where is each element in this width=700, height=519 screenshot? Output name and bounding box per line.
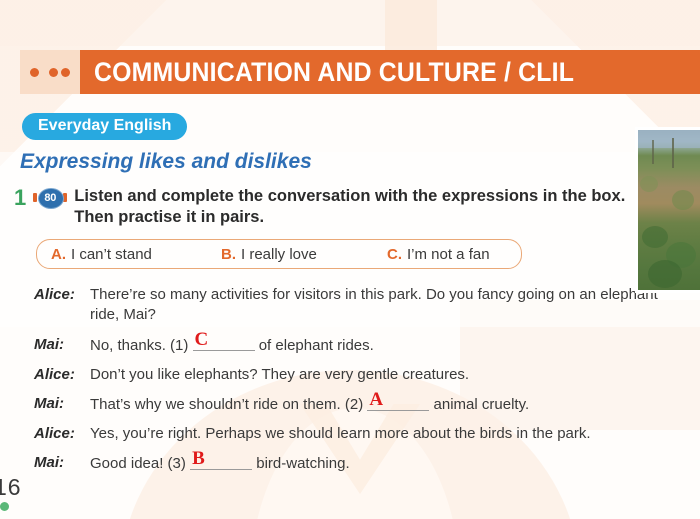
option-letter: B. <box>221 246 236 263</box>
dialogue-line: Alice: Yes, you’re right. Perhaps we sho… <box>34 424 690 444</box>
three-dots-icon <box>20 50 80 94</box>
speaker-label: Mai: <box>34 394 90 414</box>
utterance: There’re so many activities for visitors… <box>90 285 690 326</box>
utterance-before: That’s why we shouldn’t ride on them. (2… <box>90 396 363 413</box>
task-1: 1 80 Listen and complete the conversatio… <box>14 186 638 228</box>
dialogue-line: Mai: That’s why we shouldn’t ride on the… <box>34 394 690 415</box>
page-title: COMMUNICATION AND CULTURE / CLIL <box>94 57 574 88</box>
task-instruction: Listen and complete the conversation wit… <box>74 186 638 228</box>
speaker-label: Alice: <box>34 365 90 385</box>
section-header: COMMUNICATION AND CULTURE / CLIL <box>20 50 700 94</box>
dialogue-line: Alice: There’re so many activities for v… <box>34 285 690 326</box>
task-number: 1 <box>14 187 26 209</box>
forest-hillside-photo <box>638 130 700 290</box>
option-text: I really love <box>241 246 317 263</box>
expression-option-a[interactable]: A. I can’t stand <box>51 246 152 263</box>
expression-option-c[interactable]: C. I’m not a fan <box>387 246 490 263</box>
option-text: I can’t stand <box>71 246 152 263</box>
utterance: Yes, you’re right. Perhaps we should lea… <box>90 424 591 444</box>
handwritten-answer-2: A <box>369 390 383 409</box>
subheading: Expressing likes and dislikes <box>20 150 312 174</box>
speaker-label: Mai: <box>34 453 90 473</box>
audio-track-icon[interactable]: 80 <box>33 188 67 207</box>
utterance-after: bird-watching. <box>256 455 349 472</box>
page-marker-dot <box>0 502 9 511</box>
option-letter: A. <box>51 246 66 263</box>
speaker-label: Mai: <box>34 335 90 355</box>
dialogue: Alice: There’re so many activities for v… <box>34 285 690 474</box>
speaker-label: Alice: <box>34 285 90 305</box>
option-letter: C. <box>387 246 402 263</box>
option-text: I’m not a fan <box>407 246 490 263</box>
utterance-after: animal cruelty. <box>434 396 530 413</box>
utterance-before: No, thanks. (1) <box>90 336 188 353</box>
utterance: That’s why we shouldn’t ride on them. (2… <box>90 394 529 415</box>
audio-track-number: 80 <box>44 192 56 204</box>
dialogue-line: Alice: Don’t you like elephants? They ar… <box>34 365 690 385</box>
utterance: Don’t you like elephants? They are very … <box>90 365 469 385</box>
utterance: Good idea! (3) B bird-watching. <box>90 453 350 474</box>
answer-blank-3[interactable]: B <box>190 453 252 470</box>
handwritten-answer-1: C <box>195 330 209 349</box>
dialogue-line: Mai: Good idea! (3) B bird-watching. <box>34 453 690 474</box>
expression-option-b[interactable]: B. I really love <box>221 246 317 263</box>
answer-blank-1[interactable]: C <box>193 335 255 352</box>
page-number: 16 <box>0 474 22 501</box>
dialogue-line: Mai: No, thanks. (1) C of elephant rides… <box>34 335 690 356</box>
handwritten-answer-3: B <box>192 449 205 468</box>
expressions-box: A. I can’t stand B. I really love C. I’m… <box>36 239 522 269</box>
utterance-before: Good idea! (3) <box>90 455 186 472</box>
answer-blank-2[interactable]: A <box>367 394 429 411</box>
section-title-bar: COMMUNICATION AND CULTURE / CLIL <box>80 50 700 94</box>
utterance: No, thanks. (1) C of elephant rides. <box>90 335 374 356</box>
speaker-label: Alice: <box>34 424 90 444</box>
utterance-after: of elephant rides. <box>259 336 374 353</box>
everyday-english-badge: Everyday English <box>22 113 187 140</box>
